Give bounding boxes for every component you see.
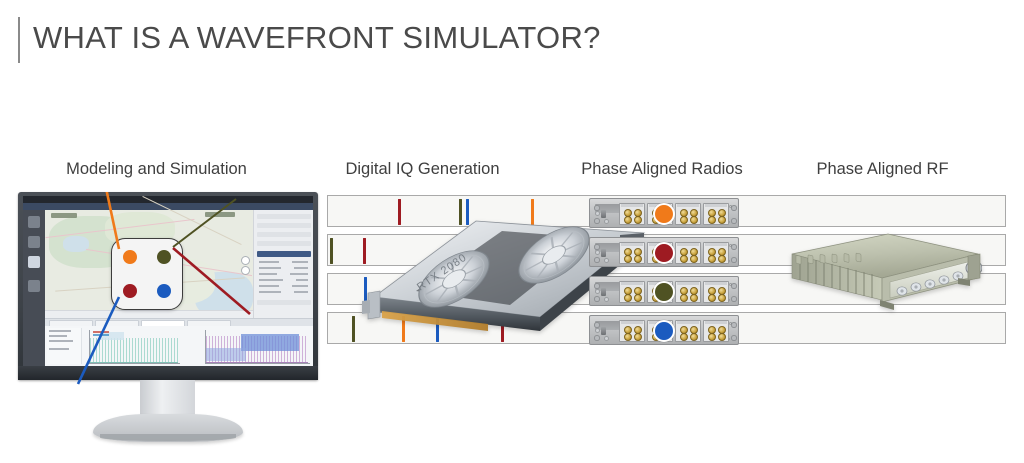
monitor-chin (18, 366, 318, 380)
monitor-base-edge (100, 434, 236, 441)
sma-connector (680, 255, 688, 263)
usrp-screw (594, 257, 600, 263)
title-accent-bar (18, 17, 20, 63)
sma-connector (708, 294, 716, 302)
usrp-screw (594, 335, 600, 341)
radio-channel-dot (653, 320, 675, 342)
usrp-connector-block (619, 281, 645, 303)
rail-code-icon (28, 280, 40, 292)
app-plot-area (45, 326, 313, 366)
radio-channel-dot (653, 203, 675, 225)
sma-connector (680, 216, 688, 224)
column-label-digital-iq: Digital IQ Generation (330, 160, 515, 179)
sma-connector (624, 294, 632, 302)
sma-connector (708, 255, 716, 263)
usrp-connector-block (675, 281, 701, 303)
usrp-screw (594, 296, 600, 302)
usrp-screw (594, 205, 600, 211)
sma-connector (624, 333, 632, 341)
usrp-screw (731, 335, 737, 341)
usrp-power-switch (601, 288, 606, 296)
sma-connector (624, 255, 632, 263)
usrp-screw (594, 322, 600, 328)
usrp-connector-block (675, 203, 701, 225)
usrp-status-led (604, 258, 609, 263)
sma-connector (690, 333, 698, 341)
usrp-screw (731, 283, 737, 289)
usrp-status-led (595, 289, 600, 294)
sma-connector (680, 294, 688, 302)
sma-connector (680, 333, 688, 341)
sma-connector (690, 294, 698, 302)
column-label-radios: Phase Aligned Radios (567, 160, 757, 179)
dot-bottom-right (157, 284, 171, 298)
radio-channel-dot (653, 242, 675, 264)
rail-map-icon (28, 256, 40, 268)
app-left-rail (23, 210, 45, 366)
monitor-illustration (18, 192, 318, 418)
usrp-screw (731, 296, 737, 302)
usrp-connector-block (703, 281, 729, 303)
usrp-status-led (604, 336, 609, 341)
usrp-status-led (595, 250, 600, 255)
sma-connector (634, 294, 642, 302)
rail-location-icon (28, 236, 40, 248)
usrp-screw (731, 322, 737, 328)
spectrum-plot-left (90, 338, 178, 363)
usrp-power-switch (601, 249, 606, 257)
usrp-screw (594, 218, 600, 224)
usrp-connector-block (619, 203, 645, 225)
sma-connector (708, 216, 716, 224)
sma-connector (634, 333, 642, 341)
page-title: WHAT IS A WAVEFRONT SIMULATOR? (33, 20, 601, 56)
usrp-screw (731, 205, 737, 211)
dot-top-right (157, 250, 171, 264)
usrp-power-switch (601, 210, 606, 218)
column-label-rf: Phase Aligned RF (805, 160, 960, 179)
usrp-connector-block (703, 242, 729, 264)
usrp-connector-block (703, 320, 729, 342)
sma-connector (718, 294, 726, 302)
usrp-screw (594, 283, 600, 289)
usrp-radio: USRP N310 (589, 276, 739, 306)
slide-root: WHAT IS A WAVEFRONT SIMULATOR? Modeling … (0, 0, 1024, 463)
sma-connector (708, 333, 716, 341)
usrp-screw (731, 244, 737, 250)
rail-settings-icon (28, 216, 40, 228)
usrp-status-led (595, 328, 600, 333)
usrp-screw (731, 218, 737, 224)
sma-connector (624, 216, 632, 224)
column-label-modeling: Modeling and Simulation (44, 160, 269, 179)
dot-top-left (123, 250, 137, 264)
usrp-power-switch (601, 327, 606, 335)
usrp-screw (594, 244, 600, 250)
usrp-connector-block (703, 203, 729, 225)
usrp-radio: USRP N310 (589, 315, 739, 345)
sma-connector (690, 216, 698, 224)
usrp-radio: USRP N310 (589, 237, 739, 267)
usrp-status-led (604, 297, 609, 302)
usrp-connector-block (619, 320, 645, 342)
iq-pulse-tick (330, 238, 333, 264)
sma-connector (634, 216, 642, 224)
usrp-radio: USRP N310 (589, 198, 739, 228)
usrp-status-led (595, 211, 600, 216)
sma-connector (718, 333, 726, 341)
usrp-screw (731, 257, 737, 263)
usrp-connector-block (675, 320, 701, 342)
iq-pulse-tick (352, 316, 355, 342)
radio-channel-dot (653, 281, 675, 303)
sma-connector (718, 216, 726, 224)
app-title-bar (23, 196, 313, 203)
usrp-connector-block (619, 242, 645, 264)
dot-bottom-left (123, 284, 137, 298)
sma-connector (718, 255, 726, 263)
usrp-status-led (604, 219, 609, 224)
sma-connector (690, 255, 698, 263)
wavefront-dot-panel (111, 238, 183, 310)
usrp-connector-block (675, 242, 701, 264)
rf-amplifier-illustration (762, 228, 982, 318)
app-properties-panel (253, 210, 313, 318)
sma-connector (634, 255, 642, 263)
